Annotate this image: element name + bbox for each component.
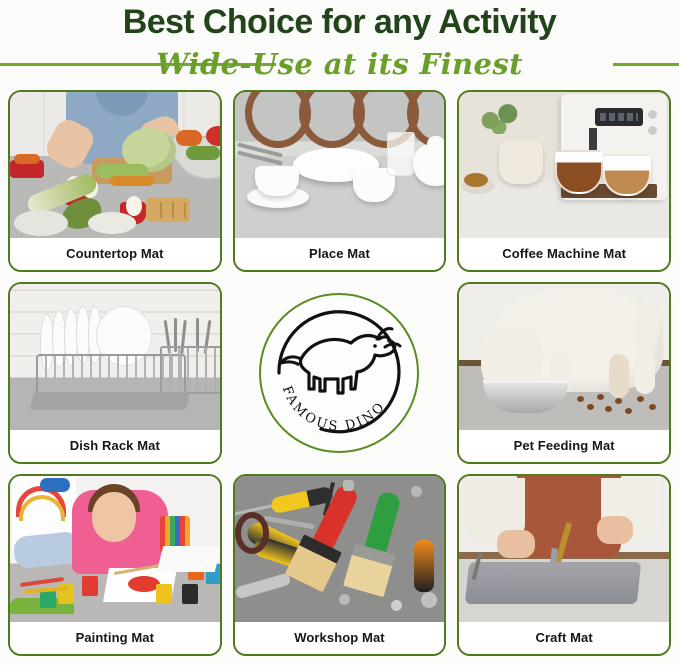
grid-card-place-mat[interactable]: Place Mat — [233, 90, 447, 272]
photo-child-painting — [10, 476, 220, 622]
triceratops-icon: FAMOUS DINO — [259, 293, 419, 453]
card-label: Coffee Machine Mat — [459, 238, 669, 270]
famous-dino-logo: FAMOUS DINO — [259, 293, 419, 453]
card-label: Painting Mat — [10, 622, 220, 654]
photo-place-setting — [235, 92, 445, 238]
logo-brand-text: FAMOUS DINO — [279, 384, 389, 434]
grid-card-painting-mat[interactable]: Painting Mat — [8, 474, 222, 656]
grid-card-pet-feeding-mat[interactable]: Pet Feeding Mat — [457, 282, 671, 464]
page-title: Best Choice for any Activity — [0, 2, 679, 42]
header-banner: Best Choice for any Activity Wide-Use at… — [0, 0, 679, 88]
svg-text:FAMOUS DINO: FAMOUS DINO — [279, 384, 389, 434]
subtitle-row: Wide-Use at its Finest — [0, 44, 679, 84]
feature-grid: Countertop Mat Place Mat — [8, 90, 671, 656]
card-label: Pet Feeding Mat — [459, 430, 669, 462]
card-label: Dish Rack Mat — [10, 430, 220, 462]
grid-card-countertop-mat[interactable]: Countertop Mat — [8, 90, 222, 272]
photo-workshop-tools — [235, 476, 445, 622]
photo-pet-feeding — [459, 284, 669, 430]
page-subtitle: Wide-Use at its Finest — [0, 44, 679, 84]
card-label: Countertop Mat — [10, 238, 220, 270]
grid-card-workshop-mat[interactable]: Workshop Mat — [233, 474, 447, 656]
card-label: Workshop Mat — [235, 622, 445, 654]
photo-kitchen-countertop — [10, 92, 220, 238]
grid-card-craft-mat[interactable]: Craft Mat — [457, 474, 671, 656]
grid-card-dish-rack-mat[interactable]: Dish Rack Mat — [8, 282, 222, 464]
card-label: Place Mat — [235, 238, 445, 270]
photo-dish-rack — [10, 284, 220, 430]
photo-craft-cutting-fabric — [459, 476, 669, 622]
card-label: Craft Mat — [459, 622, 669, 654]
photo-espresso-machine — [459, 92, 669, 238]
grid-card-coffee-machine-mat[interactable]: Coffee Machine Mat — [457, 90, 671, 272]
brand-logo-cell: FAMOUS DINO — [233, 282, 447, 464]
